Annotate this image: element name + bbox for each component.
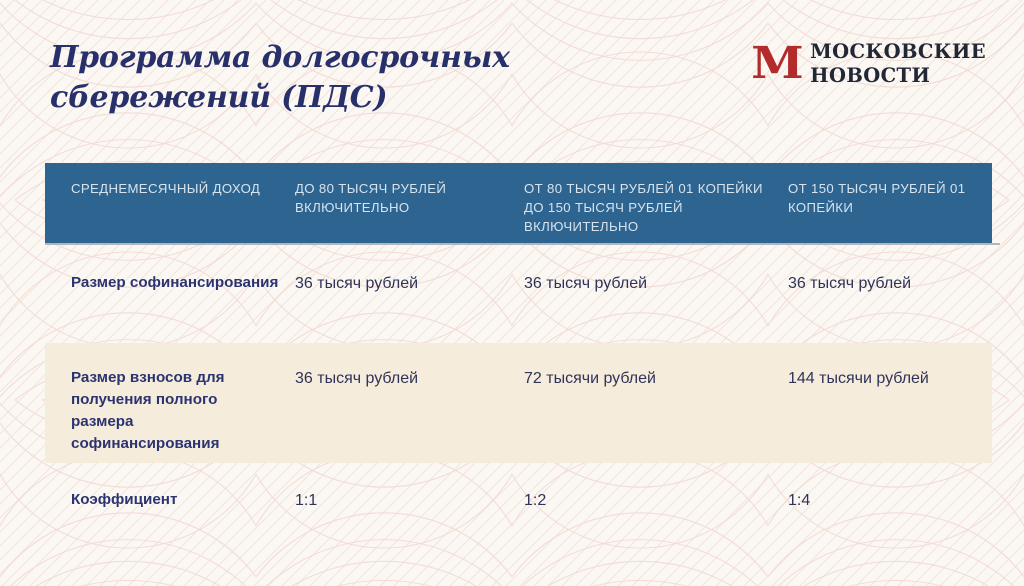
cell-contribution-tier-2: 72 тысячи рублей (524, 367, 788, 390)
cell-cofinancing-tier-2: 36 тысяч рублей (524, 272, 788, 295)
comparison-table: СРЕДНЕМЕСЯЧНЫЙ ДОХОД ДО 80 ТЫСЯЧ РУБЛЕЙ … (45, 163, 992, 533)
row-label-cofinancing-amount: Размер софинансирования (45, 272, 295, 294)
cell-coefficient-tier-3: 1:4 (788, 489, 992, 512)
row-label-contribution-amount: Размер взносов для получения полного раз… (45, 367, 295, 455)
table-row-highlighted: Размер взносов для получения полного раз… (45, 343, 992, 463)
cell-cofinancing-tier-1: 36 тысяч рублей (295, 272, 524, 295)
cell-coefficient-tier-2: 1:2 (524, 489, 788, 512)
publisher-logo-text: МОСКОВСКИЕ НОВОСТИ (810, 40, 986, 88)
page-title: Программа долгосрочных сбережений (ПДС) (50, 38, 610, 117)
blackletter-m-icon: М (752, 43, 802, 85)
table-header-row: СРЕДНЕМЕСЯЧНЫЙ ДОХОД ДО 80 ТЫСЯЧ РУБЛЕЙ … (45, 163, 992, 243)
cell-coefficient-tier-1: 1:1 (295, 489, 524, 512)
cell-contribution-tier-1: 36 тысяч рублей (295, 367, 524, 390)
table-row: Размер софинансирования 36 тысяч рублей … (45, 243, 992, 343)
publisher-name-line-1: МОСКОВСКИЕ (810, 40, 986, 64)
header-underline-rule (45, 243, 1000, 245)
publisher-name-line-2: НОВОСТИ (810, 64, 986, 88)
cell-contribution-tier-3: 144 тысячи рублей (788, 367, 992, 390)
page-title-line-1: Программа долгосрочных (50, 38, 610, 78)
table-header-income: СРЕДНЕМЕСЯЧНЫЙ ДОХОД (45, 180, 295, 199)
table-header-tier-1: ДО 80 ТЫСЯЧ РУБЛЕЙ ВКЛЮЧИТЕЛЬНО (295, 180, 524, 218)
row-label-coefficient: Коэффициент (45, 489, 295, 511)
table-header-tier-2: ОТ 80 ТЫСЯЧ РУБЛЕЙ 01 КОПЕЙКИ ДО 150 ТЫС… (524, 180, 788, 237)
table-header-tier-3: ОТ 150 ТЫСЯЧ РУБЛЕЙ 01 КОПЕЙКИ (788, 180, 992, 218)
table-row: Коэффициент 1:1 1:2 1:4 (45, 463, 992, 533)
cell-cofinancing-tier-3: 36 тысяч рублей (788, 272, 992, 295)
publisher-logo: М МОСКОВСКИЕ НОВОСТИ (753, 40, 986, 88)
page-title-line-2: сбережений (ПДС) (50, 78, 610, 118)
